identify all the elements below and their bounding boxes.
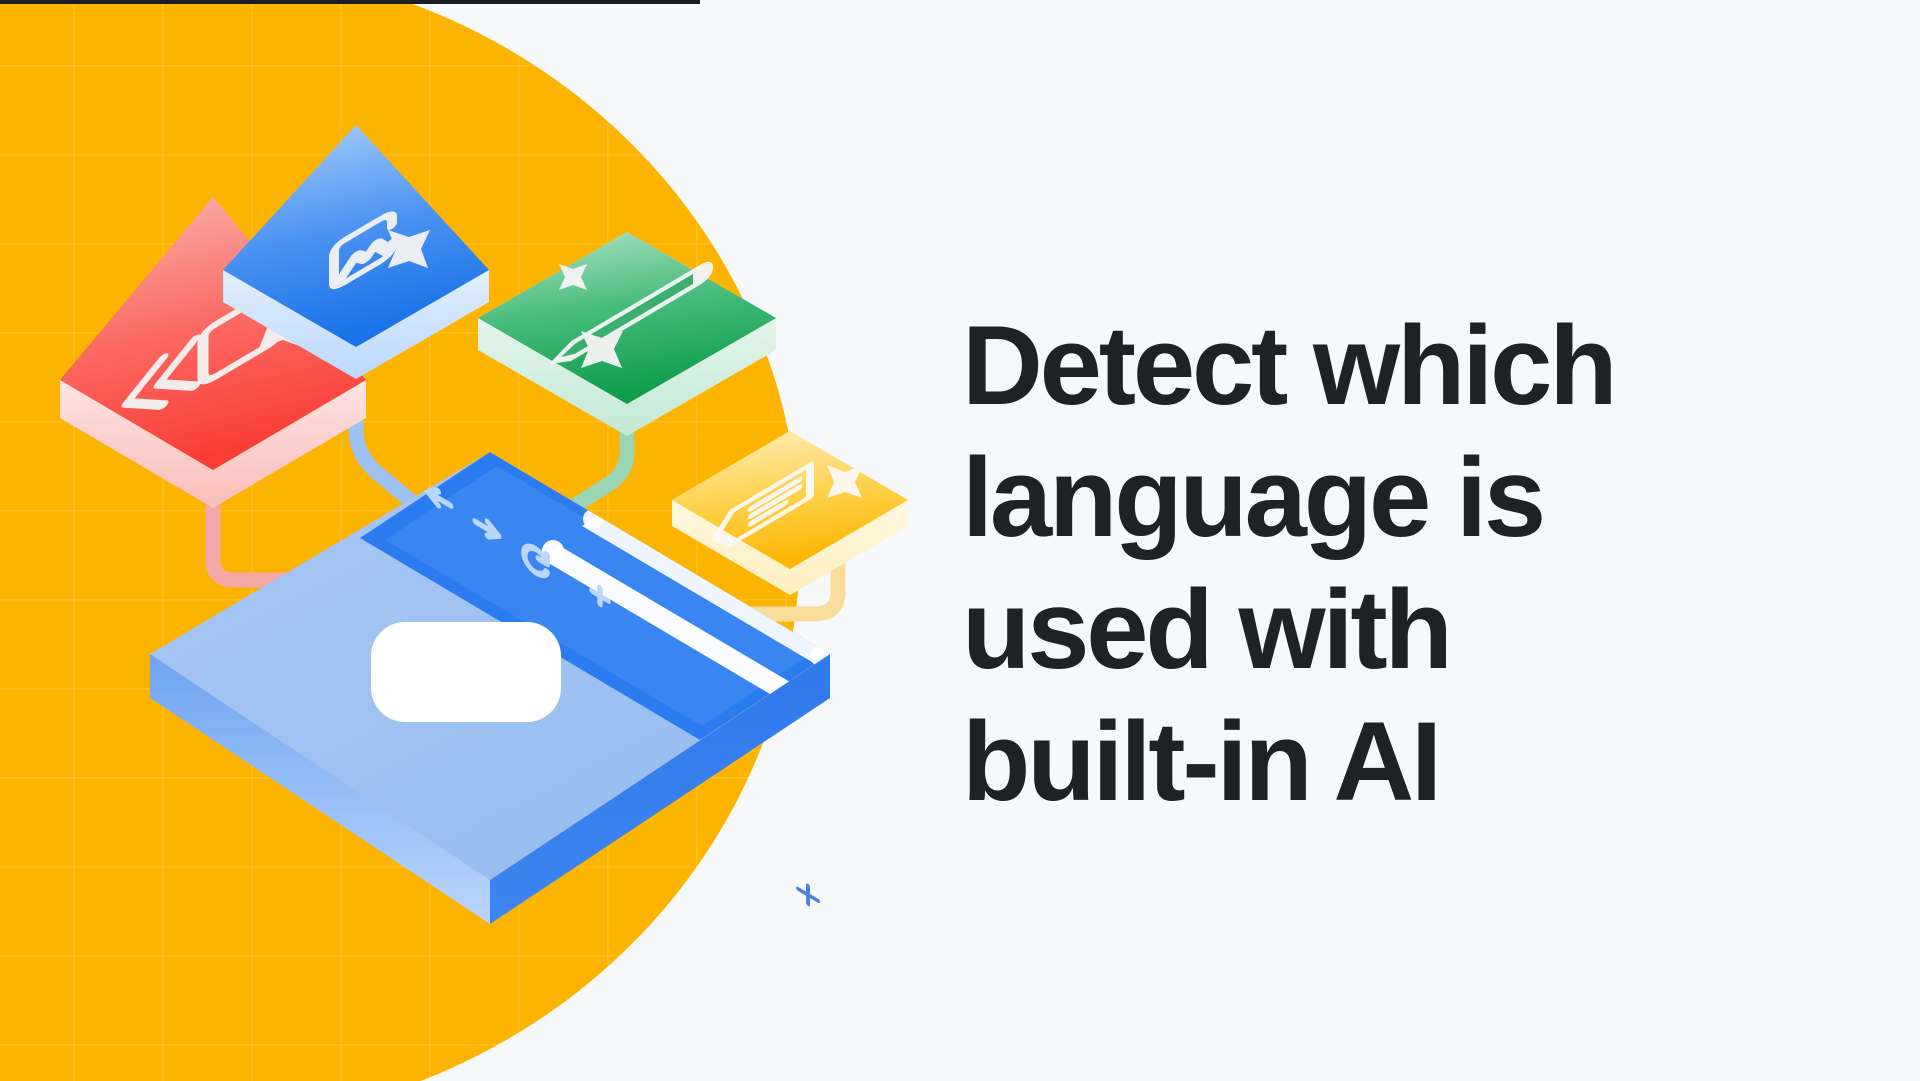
center-output-card	[371, 622, 561, 722]
writer-api-card	[478, 232, 776, 436]
corner-plus-icon	[798, 880, 818, 910]
slide-canvas: Detect which language is used with built…	[0, 0, 1920, 1081]
illustration-built-in-ai	[0, 0, 990, 1081]
summarizer-api-card	[672, 431, 908, 595]
page-title: Detect which language is used with built…	[962, 300, 1822, 829]
headline-block: Detect which language is used with built…	[962, 300, 1822, 829]
